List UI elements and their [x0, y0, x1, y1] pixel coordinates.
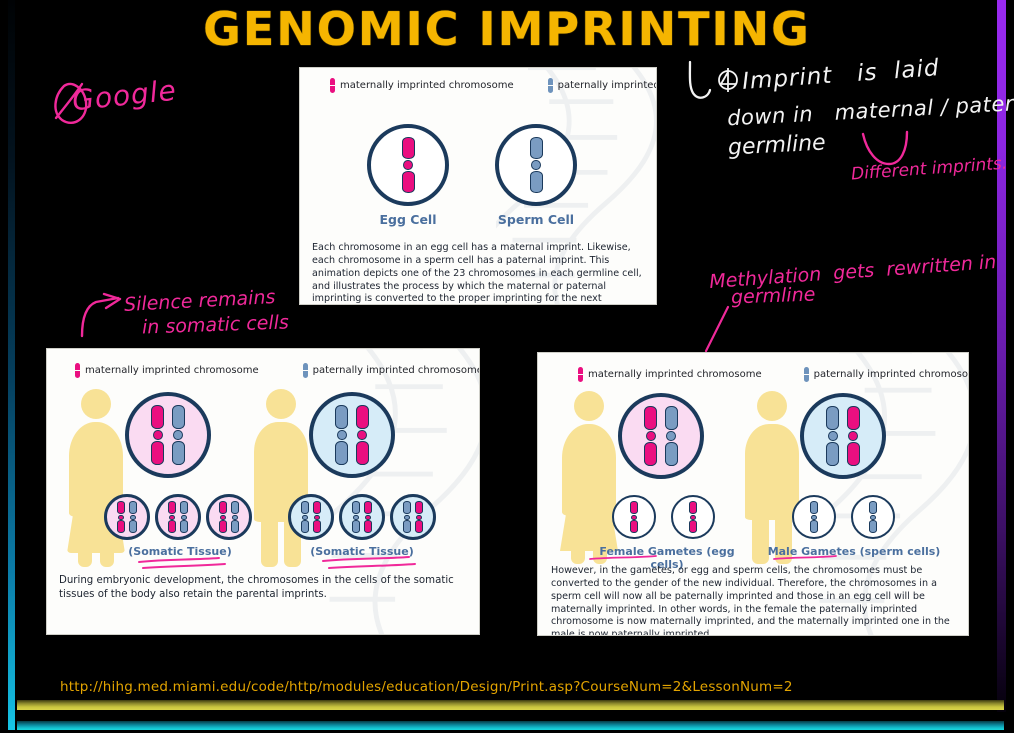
legend-item-maternal: maternally imprinted chromosome — [75, 363, 259, 378]
male-somatic-cell-1 — [288, 494, 334, 540]
source-url-text: http://hihg.med.miami.edu/code/http/modu… — [60, 679, 793, 695]
ink-v-connector — [855, 130, 955, 175]
male-somatic-cell — [309, 392, 395, 478]
maternal-chromosome-icon — [75, 363, 80, 378]
female-somatic-cell-3 — [206, 494, 252, 540]
ink-note-methylation-line2: germline — [731, 284, 816, 309]
legend-label-paternal: paternally imprinted chromosome — [814, 369, 969, 380]
legend-item-paternal: paternally imprinted chromosome — [804, 367, 969, 382]
egg-cell-caption: Egg Cell — [347, 212, 469, 227]
figure-panel-germline-cells: maternally imprinted chromosome paternal… — [299, 67, 657, 305]
ink-note-imprint-line3: germline — [727, 130, 826, 160]
legend-item-maternal: maternally imprinted chromosome — [330, 78, 514, 93]
page-title: GENOMIC IMPRINTING — [0, 2, 1014, 56]
ink-numbered-marker-4 — [716, 66, 742, 94]
ink-note-imprint-line1: Imprint is laid — [741, 55, 940, 95]
paternal-chromosome-glyph — [352, 501, 360, 533]
ink-arrow-right-somatic — [78, 292, 136, 338]
legend-bottom-right: maternally imprinted chromosome paternal… — [578, 367, 969, 382]
legend-item-maternal: maternally imprinted chromosome — [578, 367, 762, 382]
male-gamete-cell-1 — [792, 495, 836, 539]
figure-panel-gametes: maternally imprinted chromosome paternal… — [537, 352, 969, 636]
maternal-chromosome-glyph — [364, 501, 372, 533]
maternal-chromosome-glyph — [402, 137, 415, 193]
legend-label-maternal: maternally imprinted chromosome — [340, 80, 514, 91]
ink-note-imprint-line2: down in maternal / paternal — [727, 90, 1014, 131]
legend-label-paternal: paternally imprinted chromosome — [313, 365, 480, 376]
legend-item-paternal: paternally imprinted chromosome — [303, 363, 480, 378]
maternal-chromosome-glyph — [630, 501, 638, 533]
panel-top-paragraph: Each chromosome in an egg cell has a mat… — [312, 242, 650, 305]
paternal-chromosome-icon — [548, 78, 553, 93]
paternal-chromosome-glyph — [665, 406, 678, 466]
maternal-chromosome-glyph — [219, 501, 227, 533]
maternal-chromosome-glyph — [689, 501, 697, 533]
paternal-chromosome-glyph — [869, 501, 877, 533]
maternal-chromosome-glyph — [415, 501, 423, 533]
paternal-chromosome-icon — [804, 367, 809, 382]
paternal-chromosome-glyph — [826, 406, 839, 466]
maternal-chromosome-glyph — [847, 406, 860, 466]
female-somatic-cell-2 — [155, 494, 201, 540]
ink-note-methylation-line1: Methylation gets rewritten in — [709, 251, 997, 293]
bottom-teal-stripe — [17, 721, 1004, 730]
male-somatic-cell-3 — [390, 494, 436, 540]
female-somatic-cell-1 — [104, 494, 150, 540]
maternal-chromosome-glyph — [168, 501, 176, 533]
ink-note-google: Google — [71, 74, 179, 118]
maternal-chromosome-glyph — [644, 406, 657, 466]
paternal-chromosome-glyph — [180, 501, 188, 533]
ink-pointer-line-methylation — [700, 305, 740, 355]
maternal-chromosome-glyph — [151, 405, 164, 465]
male-gametes-caption: Male Gametes (sperm cells) — [764, 545, 944, 558]
legend-label-maternal: maternally imprinted chromosome — [588, 369, 762, 380]
paternal-chromosome-glyph — [810, 501, 818, 533]
ink-note-silence-line1: Silence remains — [124, 286, 276, 316]
legend-bottom-left: maternally imprinted chromosome paternal… — [75, 363, 480, 378]
legend-label-maternal: maternally imprinted chromosome — [85, 365, 259, 376]
right-edge-stripe — [997, 0, 1006, 712]
legend-top: maternally imprinted chromosome paternal… — [330, 78, 657, 93]
left-edge-stripe — [8, 0, 15, 733]
maternal-chromosome-glyph — [356, 405, 369, 465]
maternal-chromosome-glyph — [313, 501, 321, 533]
male-figure-icon — [743, 391, 801, 561]
panel-bottom-right-paragraph: However, in the gametes, or egg and sper… — [551, 565, 957, 636]
paternal-chromosome-glyph — [129, 501, 137, 533]
female-somatic-cell — [125, 392, 211, 478]
maternal-chromosome-icon — [330, 78, 335, 93]
maternal-chromosome-glyph — [117, 501, 125, 533]
paternal-chromosome-glyph — [231, 501, 239, 533]
paternal-chromosome-glyph — [301, 501, 309, 533]
paternal-chromosome-glyph — [530, 137, 543, 193]
sperm-cell-circle — [495, 124, 577, 206]
ink-note-silence-line2: in somatic cells — [142, 311, 290, 338]
female-gamete-cell-1 — [612, 495, 656, 539]
ink-google-circle-marker — [48, 74, 198, 136]
paternal-chromosome-glyph — [172, 405, 185, 465]
male-gamete-cell-2 — [851, 495, 895, 539]
paternal-chromosome-glyph — [335, 405, 348, 465]
male-somatic-cell-2 — [339, 494, 385, 540]
paternal-chromosome-icon — [303, 363, 308, 378]
ink-note-different-imprints: Different imprints. — [850, 154, 1007, 185]
figure-panel-somatic-tissue: maternally imprinted chromosome paternal… — [46, 348, 480, 635]
female-gamete-cell-2 — [671, 495, 715, 539]
female-germ-cell — [618, 393, 704, 479]
legend-item-paternal: paternally imprinted chromosome — [548, 78, 657, 93]
female-figure-icon — [560, 391, 618, 561]
legend-label-paternal: paternally imprinted chromosome — [558, 80, 657, 91]
male-germ-cell — [800, 393, 886, 479]
panel-bottom-left-paragraph: During embryonic development, the chromo… — [59, 574, 471, 601]
sperm-cell-caption: Sperm Cell — [475, 212, 597, 227]
slide-canvas: GENOMIC IMPRINTING maternally imprinted … — [0, 0, 1014, 733]
egg-cell-circle — [367, 124, 449, 206]
maternal-chromosome-icon — [578, 367, 583, 382]
paternal-chromosome-glyph — [403, 501, 411, 533]
female-somatic-caption: (Somatic Tissue) — [115, 545, 245, 558]
bottom-olive-stripe — [17, 700, 1004, 710]
male-somatic-caption: (Somatic Tissue) — [297, 545, 427, 558]
ink-arrow-down-right — [684, 60, 734, 108]
